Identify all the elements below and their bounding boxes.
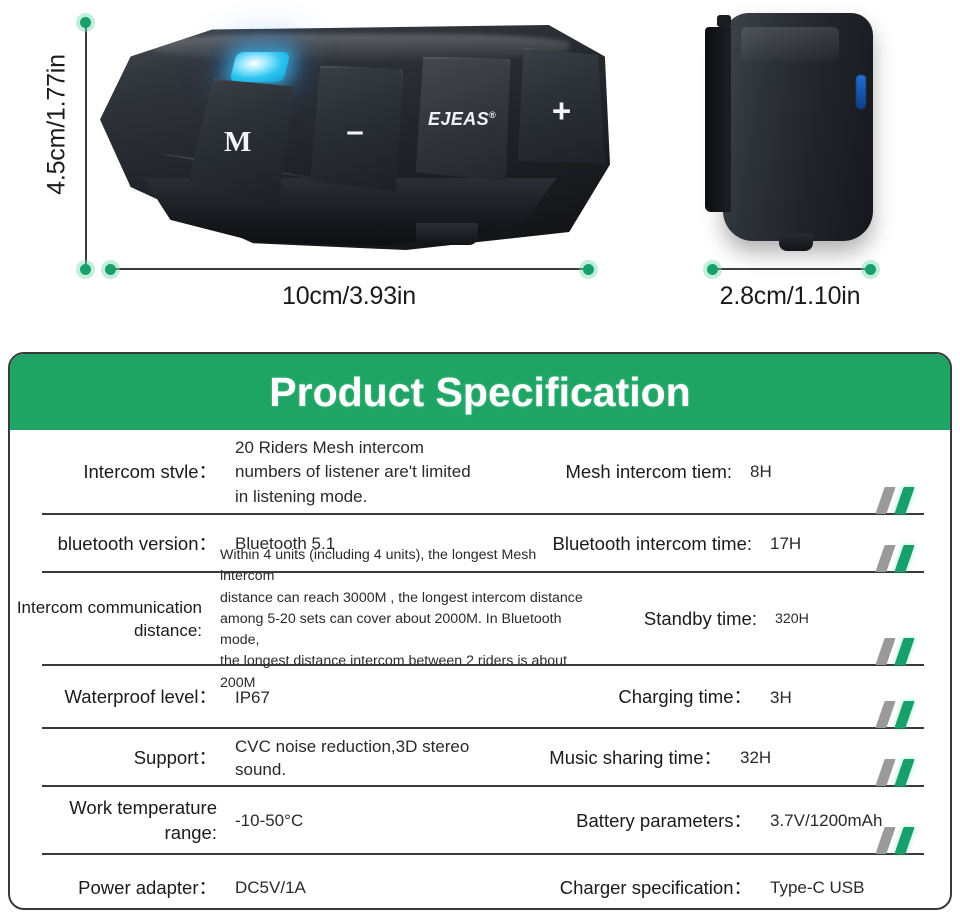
minus-button-glyph: – [346,113,363,149]
spec-value-right: 320H [765,609,935,630]
height-dimension-label: 4.5cm/1.77in [43,30,72,220]
dimension-endpoint-dot [80,264,91,275]
spec-title: Product Specification [269,369,690,416]
spec-label-right: Music sharing time： [525,746,730,771]
dimension-endpoint-dot [865,264,876,275]
brand-logo-text: EJEAS® [428,109,496,130]
status-led-indicator [229,52,290,82]
spec-value-left: -10-50°C [225,809,510,832]
slash-gray-icon [875,638,895,665]
intercom-device-side-view [705,5,880,250]
side-device-tab [717,15,731,27]
side-device-top-panel [741,27,839,61]
spec-panel-header: Product Specification [10,354,950,430]
depth-dimension-label: 2.8cm/1.10in [690,282,890,311]
spec-label-right: Battery parameters： [510,809,760,834]
dimension-endpoint-dot [105,264,116,275]
spec-row: Work temperature range: -10-50°C Battery… [10,787,950,855]
width-dimension-label: 10cm/3.93in [110,282,588,311]
slash-green-icon [894,638,914,665]
spec-label-left: Power adapter： [10,876,225,901]
device-button-plus: + [518,48,605,174]
depth-dimension-line [712,268,870,270]
dimension-endpoint-dot [80,17,91,28]
spec-label-right: Standby time: [590,607,765,632]
spec-value-left: IP67 [225,686,510,709]
spec-value-left: CVC noise reduction,3D stereo sound. [225,735,525,782]
dimension-endpoint-dot [583,264,594,275]
spec-rows: Intercom stvle： 20 Riders Mesh intercom … [10,430,950,910]
height-dimension-line [85,22,87,270]
spec-label-left: bluetooth version： [10,532,225,557]
spec-value-right: 32H [730,746,900,769]
m-button-glyph: M [224,126,251,159]
spec-value-right: 3H [760,686,930,709]
spec-value-right: 17H [760,532,930,555]
spec-value-right: 3.7V/1200mAh [760,809,930,832]
width-dimension-line [110,268,588,270]
spec-value-right: 8H [740,460,910,485]
side-device-mount-nub [779,233,813,251]
spec-label-right: Charger specification： [510,876,760,901]
spec-row: Waterproof level： IP67 Charging time： 3H [10,666,950,729]
device-button-minus: – [307,66,404,192]
spec-value-right: Type-C USB [760,876,930,899]
spec-value-left: DC5V/1A [225,876,510,899]
slash-gray-icon [875,487,895,514]
decorative-slash-marks [876,486,922,514]
dimension-endpoint-dot [707,264,718,275]
spec-label-left: Waterproof level： [10,685,225,710]
product-specification-panel: Product Specification Intercom stvle： 20… [8,352,952,910]
spec-row: Support： CVC noise reduction,3D stereo s… [10,729,950,787]
decorative-slash-marks [876,637,922,665]
spec-label-left: Intercom communication distance: [10,597,210,643]
spec-row: Intercom stvle： 20 Riders Mesh intercom … [10,430,950,515]
product-photo-area: 4.5cm/1.77in M – EJEAS® + 10cm/3.93in [0,0,960,340]
spec-row: Intercom communication distance: Within … [10,573,950,666]
side-device-blue-accent [856,75,866,109]
spec-label-right: Charging time： [510,685,760,710]
spec-label-left: Intercom stvle： [10,460,225,485]
spec-value-left: 20 Riders Mesh intercom numbers of liste… [225,436,525,510]
intercom-device-front-view: M – EJEAS® + [100,25,610,250]
slash-green-icon [894,487,914,514]
spec-label-left: Work temperature range: [10,796,225,846]
device-mount-nub [416,223,478,245]
device-brand-button: EJEAS® [414,57,511,183]
spec-label-right: Mesh intercom tiem: [525,460,740,485]
plus-button-glyph: + [552,92,571,130]
spec-label-left: Support： [10,746,225,771]
spec-row: Power adapter： DC5V/1A Charger specifica… [10,855,950,910]
side-device-clamp [705,27,731,212]
